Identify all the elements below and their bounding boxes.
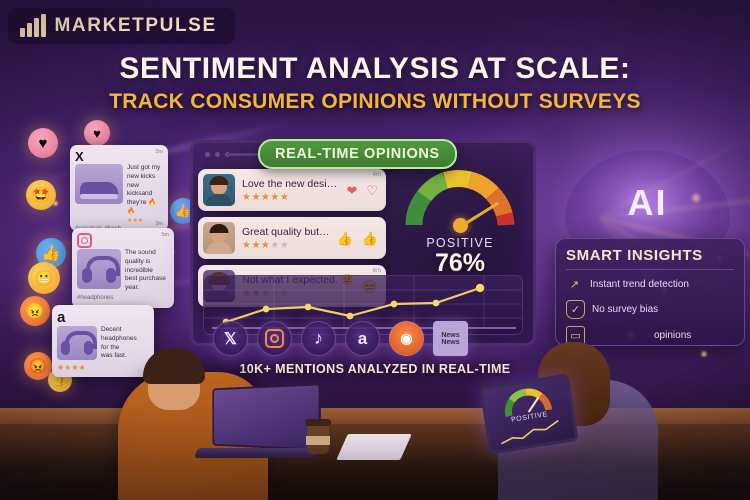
amazon-icon: a xyxy=(57,310,149,325)
page-title: SENTIMENT ANALYSIS AT SCALE: TRACK CONSU… xyxy=(0,52,750,114)
trend-up-icon: ↗ xyxy=(566,276,583,293)
post-time-secondary: 3m xyxy=(155,221,163,227)
x-twitter-icon: X xyxy=(75,150,163,163)
insight-item: ↗ Instant trend detection xyxy=(566,276,734,293)
thumbs-up-icon[interactable]: 👍 xyxy=(362,232,378,245)
insight-text: opinions xyxy=(654,330,691,341)
papers xyxy=(336,434,412,460)
post-time: 5m xyxy=(161,232,169,238)
gauge-hub xyxy=(453,218,468,233)
infographic-canvas: MARKETPULSE SENTIMENT ANALYSIS AT SCALE:… xyxy=(0,0,750,500)
divider xyxy=(566,269,734,270)
insight-item: ▭ opinions xyxy=(566,326,734,345)
dashboard-monitor: Love the new design! 😍 ★★★★★ ❤ ♡ 4m Grea… xyxy=(190,140,536,346)
platform-icon-row: 𝕏 ♪ a ◉ NewsNews xyxy=(213,321,468,356)
post-line-1: Decent xyxy=(101,326,149,335)
laptop xyxy=(196,392,314,458)
post-line-3: incredible xyxy=(125,267,169,276)
post-line-2: new kicks xyxy=(127,173,163,182)
reddit-icon[interactable]: ◉ xyxy=(389,321,424,356)
post-line-1: Just got my xyxy=(127,164,163,173)
post-line-4: best purchase xyxy=(125,275,169,284)
sentiment-gauge: POSITIVE 76% xyxy=(395,167,525,276)
emoji-grimace: 😬 xyxy=(28,262,60,294)
post-line-5: year. xyxy=(125,284,169,293)
laptop-base xyxy=(194,448,319,458)
review-time: 6m xyxy=(373,268,381,274)
tablet[interactable]: POSITIVE xyxy=(479,373,579,454)
post-line-3: for the xyxy=(101,344,149,353)
post-line-1: The sound xyxy=(125,249,169,258)
headline-line-1: SENTIMENT ANALYSIS AT SCALE: xyxy=(0,52,750,86)
emoji-heart-top: ♥ xyxy=(84,120,110,146)
coffee-cup-lid xyxy=(305,419,331,426)
thumbs-up-icon[interactable]: 👍 xyxy=(337,232,353,245)
shield-check-icon: ✓ xyxy=(566,300,585,319)
status-badge: REAL-TIME OPINIONS xyxy=(258,139,457,169)
smart-insights-panel: SMART INSIGHTS ↗ Instant trend detection… xyxy=(555,238,745,346)
headline-line-2: TRACK CONSUMER OPINIONS WITHOUT SURVEYS xyxy=(0,90,750,114)
social-post-x[interactable]: X 2m 3m Just got my new kicks new kicksa… xyxy=(70,145,168,231)
tiktok-icon[interactable]: ♪ xyxy=(301,321,336,356)
review-text: Great quality but a bit pricey. xyxy=(242,226,330,238)
news-icon[interactable]: NewsNews xyxy=(433,321,468,356)
review-time: 4m xyxy=(373,172,381,178)
post-time: 2m xyxy=(155,149,163,155)
product-image-sneaker xyxy=(75,164,123,204)
emoji-star-eyes: 🤩 xyxy=(26,180,56,210)
emoji-heart: ♥ xyxy=(28,128,58,158)
review-card[interactable]: Love the new design! 😍 ★★★★★ ❤ ♡ 4m xyxy=(198,169,386,211)
post-line-2: headphones xyxy=(101,335,149,344)
product-image-headphones xyxy=(77,249,121,289)
instagram-icon xyxy=(77,233,92,248)
emoji-angry-1: 😠 xyxy=(20,296,50,326)
star-rating: ★★★★★ xyxy=(242,192,339,203)
bar-chart-icon xyxy=(20,15,46,37)
reaction-group[interactable]: 👍 👍 xyxy=(337,232,378,245)
mentions-caption: 10K+ MENTIONS ANALYZED IN REAL-TIME xyxy=(0,362,750,376)
post-line-4: they're 🔥🔥 xyxy=(127,199,163,217)
avatar xyxy=(203,222,235,254)
brand-logo[interactable]: MARKETPULSE xyxy=(8,8,235,44)
product-image-headphones xyxy=(57,326,97,360)
avatar xyxy=(203,174,235,206)
ai-label: AI xyxy=(565,182,730,224)
post-hashtags: #headphones xyxy=(77,295,169,301)
instagram-icon[interactable] xyxy=(257,321,292,356)
heart-filled-icon[interactable]: ❤ xyxy=(346,184,357,197)
reaction-group[interactable]: ❤ ♡ xyxy=(346,184,378,197)
insight-item: ✓ No survey bias xyxy=(566,300,734,319)
social-post-instagram[interactable]: 5m The sound quality is incredible best … xyxy=(72,228,174,308)
review-card[interactable]: Great quality but a bit pricey. ★★★★★ 👍 … xyxy=(198,217,386,259)
amazon-icon[interactable]: a xyxy=(345,321,380,356)
post-line-4: was fast. xyxy=(101,352,149,361)
x-twitter-icon[interactable]: 𝕏 xyxy=(213,321,248,356)
laptop-screen xyxy=(212,383,320,451)
gauge-label: POSITIVE xyxy=(395,236,525,250)
insight-text: No survey bias xyxy=(592,304,658,315)
star-rating: ★★★★★ xyxy=(242,240,330,251)
brand-name: MARKETPULSE xyxy=(55,15,217,37)
insights-title: SMART INSIGHTS xyxy=(566,247,734,264)
review-text: Love the new design! xyxy=(242,178,339,190)
gauge-value: 76% xyxy=(395,251,525,276)
heart-outline-icon[interactable]: ♡ xyxy=(366,184,378,197)
post-line-2: quality is xyxy=(125,258,169,267)
post-line-3: new kicksand xyxy=(127,182,163,200)
gauge-dial xyxy=(400,167,520,229)
insight-text: Instant trend detection xyxy=(590,279,689,290)
coffee-cup-sleeve xyxy=(306,436,330,445)
